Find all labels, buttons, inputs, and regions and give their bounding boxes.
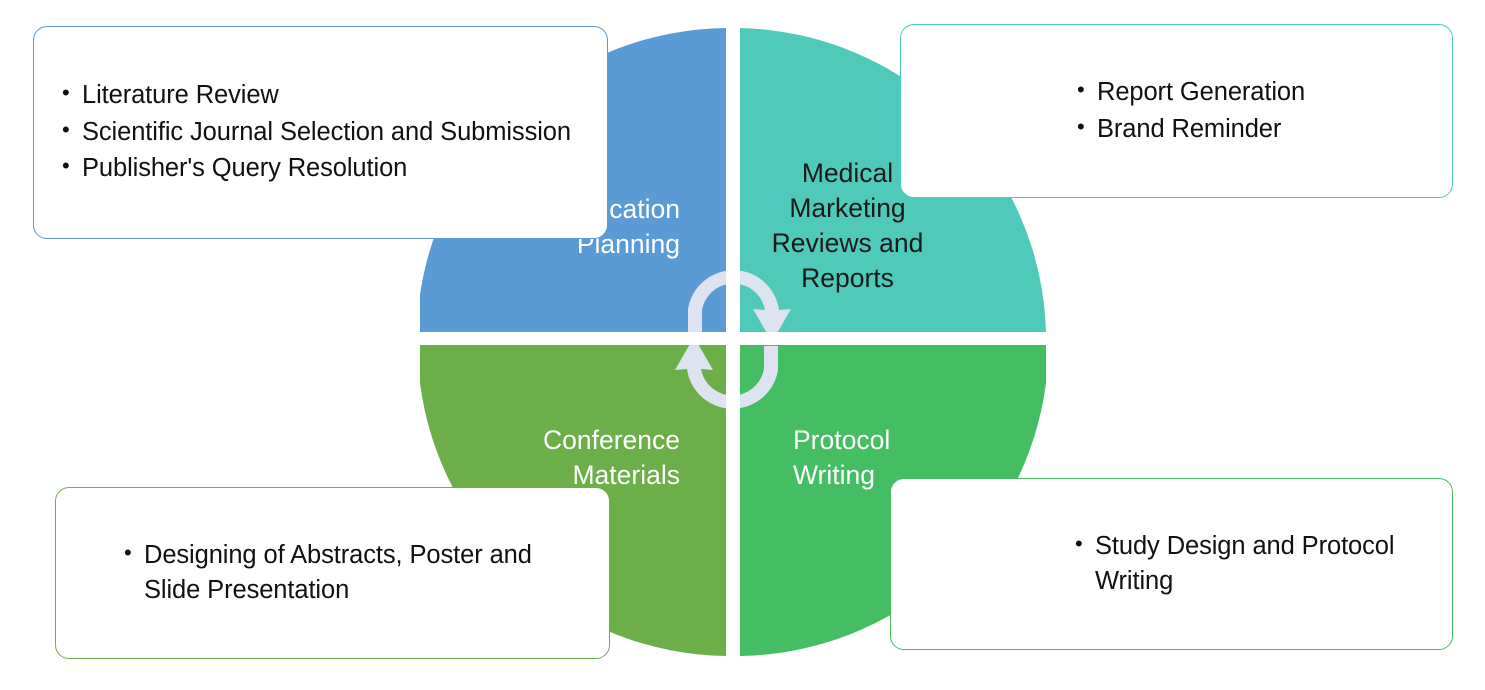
gap-horizontal [420, 332, 1046, 345]
callout-list: Report Generation Brand Reminder [1071, 75, 1432, 147]
list-item: Study Design and Protocol Writing [1069, 529, 1430, 600]
list-item: Literature Review [56, 78, 589, 113]
list-item: Report Generation [1071, 75, 1432, 110]
callout-conference-materials[interactable]: Designing of Abstracts, Poster and Slide… [55, 487, 610, 659]
list-item: Scientific Journal Selection and Submiss… [56, 115, 589, 150]
list-item: Publisher's Query Resolution [56, 151, 589, 186]
callout-list: Literature Review Scientific Journal Sel… [56, 78, 589, 186]
diagram-canvas: Publication Planning Medical Marketing R… [0, 0, 1485, 690]
list-item: Brand Reminder [1071, 112, 1432, 147]
callout-list: Study Design and Protocol Writing [1069, 529, 1430, 600]
callout-protocol-writing[interactable]: Study Design and Protocol Writing [890, 478, 1453, 650]
callout-list: Designing of Abstracts, Poster and Slide… [118, 538, 589, 609]
callout-publication-planning[interactable]: Literature Review Scientific Journal Sel… [33, 26, 608, 239]
callout-medical-marketing[interactable]: Report Generation Brand Reminder [900, 24, 1453, 198]
quadrant-label-conference-materials: Conference Materials [430, 423, 680, 493]
list-item: Designing of Abstracts, Poster and Slide… [118, 538, 589, 609]
